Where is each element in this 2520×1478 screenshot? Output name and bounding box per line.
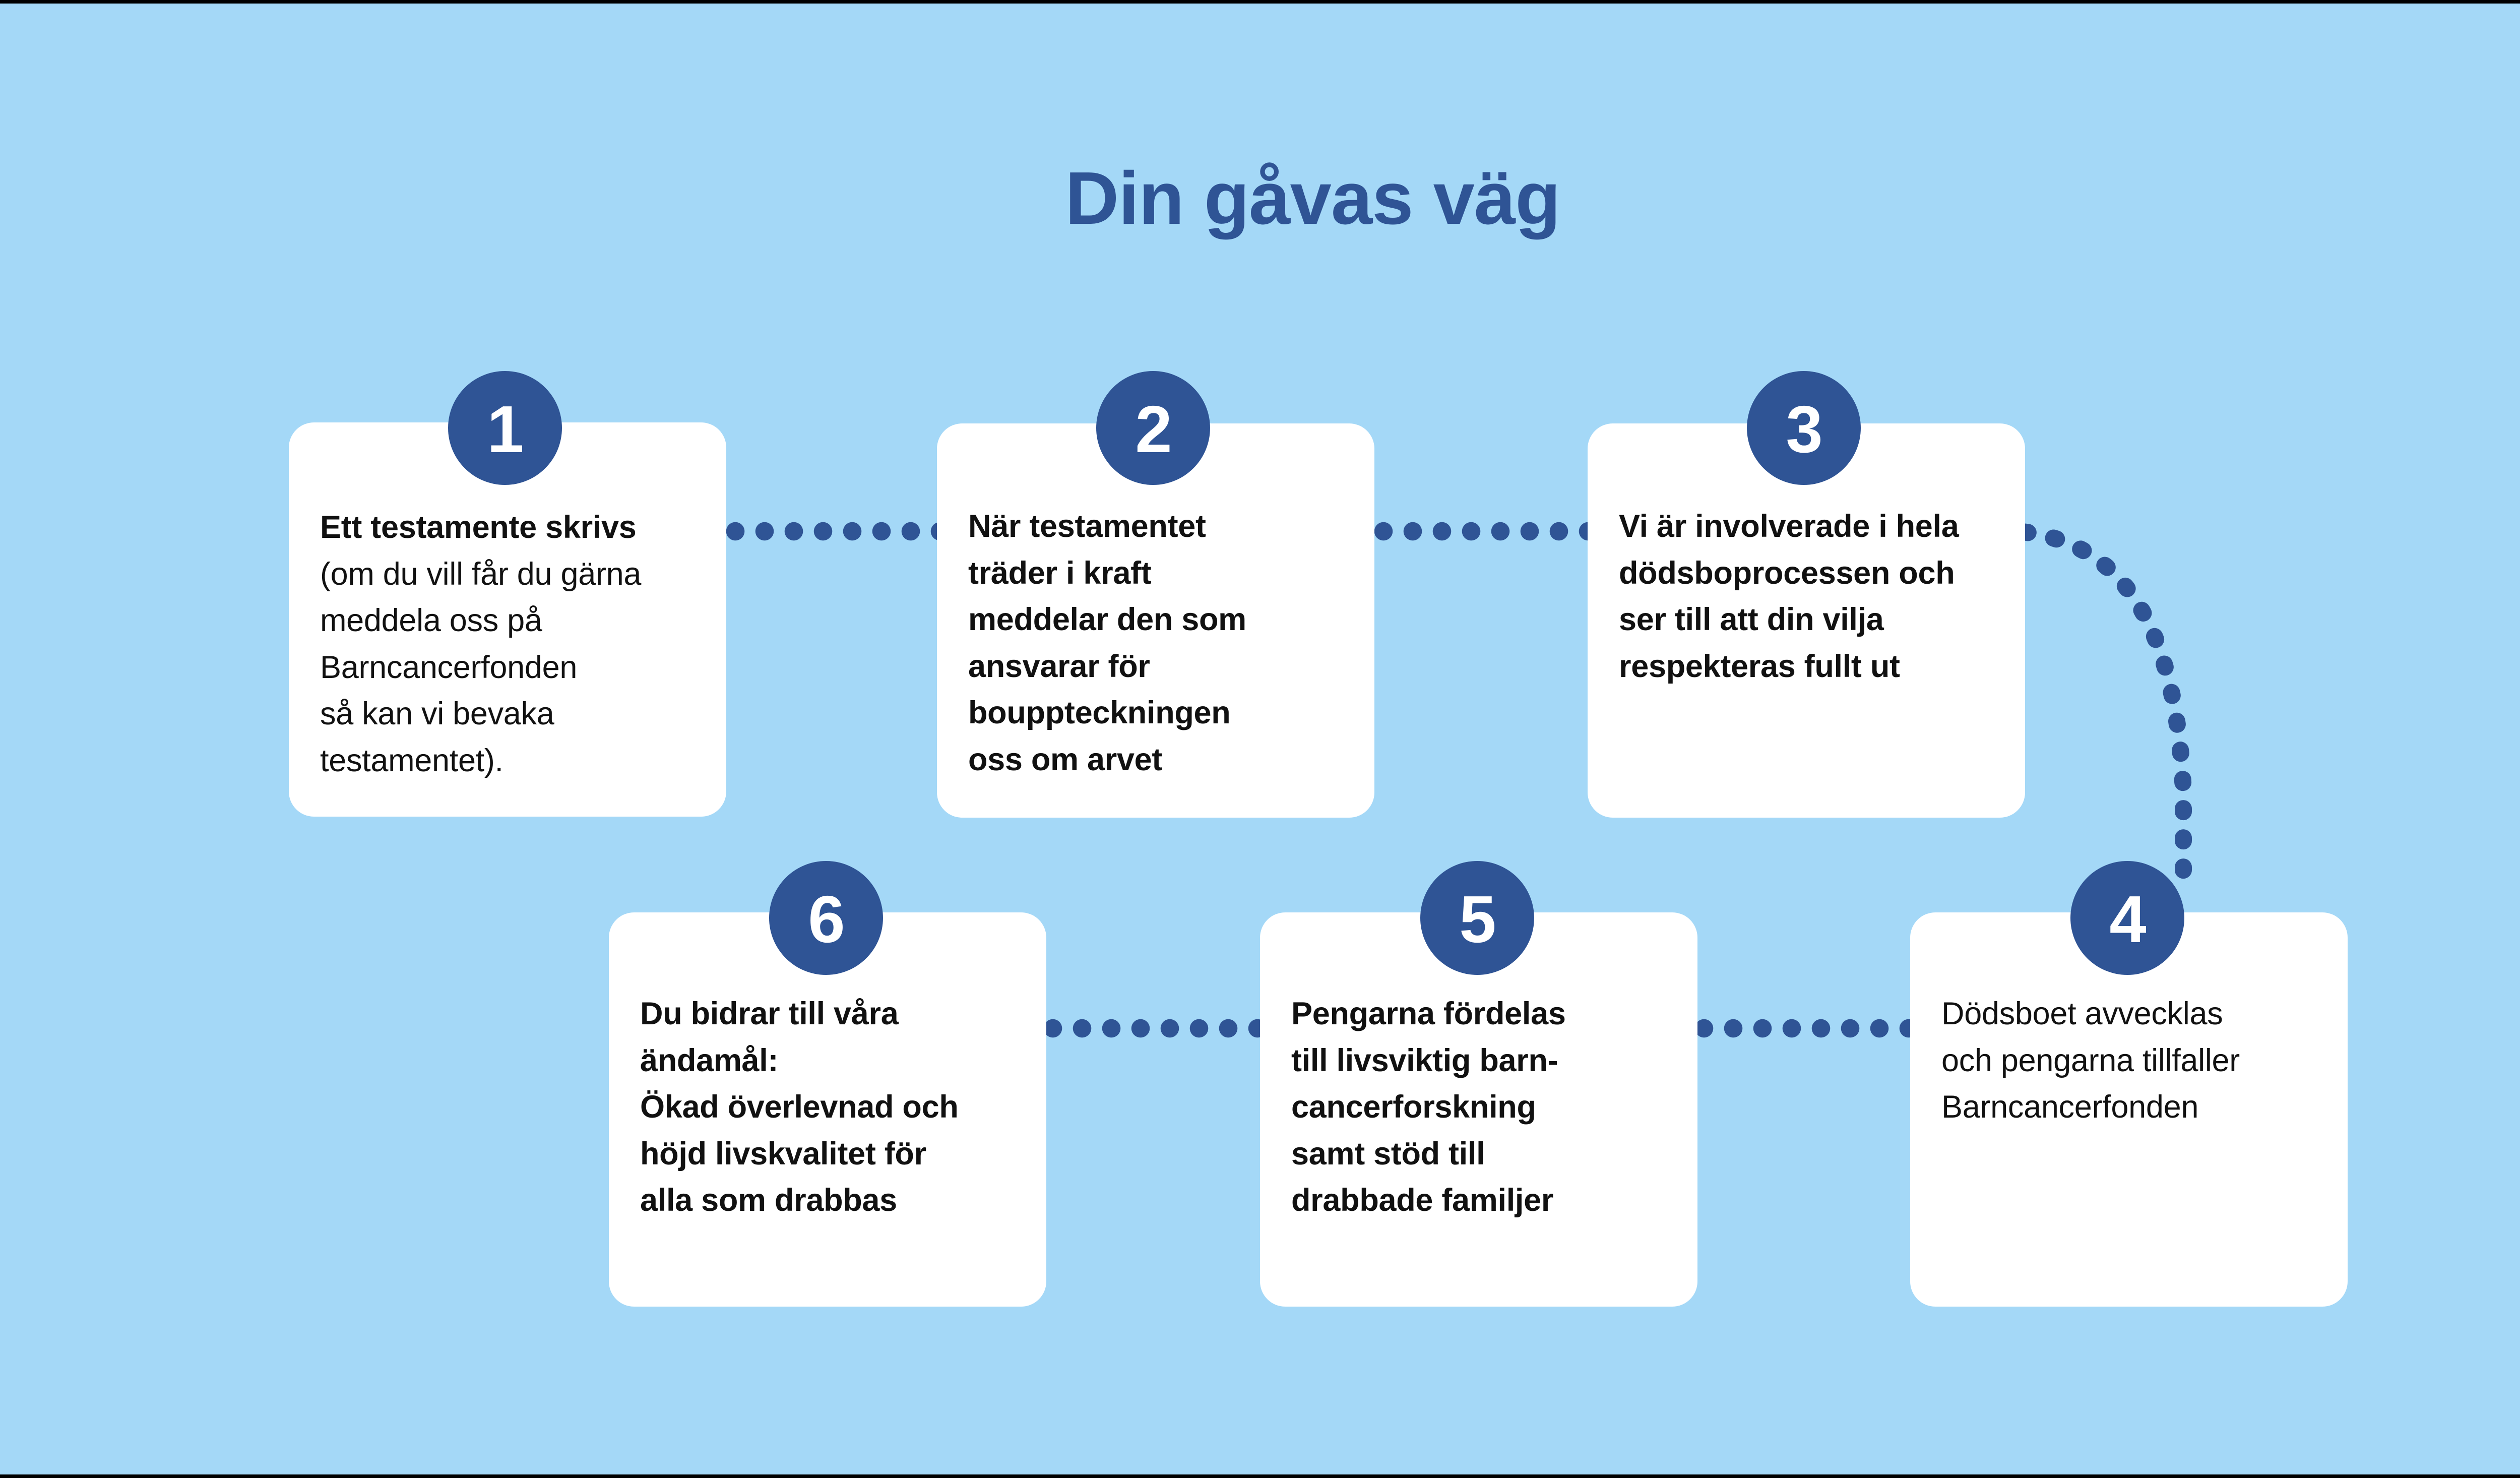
step-1-line-3: meddela oss på bbox=[320, 597, 700, 644]
step-card-6-text: Du bidrar till våra ändamål: Ökad överle… bbox=[640, 991, 1020, 1224]
step-2-line-5: bouppteckningen bbox=[968, 690, 1348, 736]
step-6-line-4: höjd livskvalitet för bbox=[640, 1131, 1020, 1178]
infographic-canvas: Din gåvas väg Ett testamente skrivs (om … bbox=[0, 0, 2520, 1478]
connector-step5-step4 bbox=[1694, 1019, 1913, 1038]
connector-step6-step5 bbox=[1043, 1019, 1263, 1038]
step-card-1-text: Ett testamente skrivs (om du vill får du… bbox=[320, 504, 700, 784]
top-edge-bar bbox=[0, 0, 2520, 4]
step-5-line-3: cancerforskning bbox=[1291, 1084, 1671, 1131]
page-title: Din gåvas väg bbox=[0, 161, 2520, 236]
step-6-line-3: Ökad överlevnad och bbox=[640, 1084, 1020, 1131]
step-badge-3: 3 bbox=[1747, 371, 1861, 485]
step-3-line-2: dödsboprocessen och bbox=[1619, 550, 1999, 597]
step-2-line-1: När testamentet bbox=[968, 503, 1348, 550]
step-2-line-2: träder i kraft bbox=[968, 550, 1348, 597]
step-card-4-text: Dödsboet avvecklas och pengarna tillfall… bbox=[1941, 991, 2321, 1131]
step-5-line-2: till livsviktig barn- bbox=[1291, 1037, 1671, 1084]
connector-step2-step3 bbox=[1374, 522, 1591, 541]
step-5-line-1: Pengarna fördelas bbox=[1291, 991, 1671, 1037]
step-2-line-4: ansvarar för bbox=[968, 643, 1348, 690]
step-card-5-text: Pengarna fördelas till livsviktig barn- … bbox=[1291, 991, 1671, 1224]
step-1-line-2: (om du vill får du gärna bbox=[320, 551, 700, 598]
step-5-line-5: drabbade familjer bbox=[1291, 1177, 1671, 1224]
step-4-line-2: och pengarna tillfaller bbox=[1941, 1037, 2321, 1084]
step-badge-5: 5 bbox=[1420, 861, 1534, 975]
step-3-line-4: respekteras fullt ut bbox=[1619, 643, 1999, 690]
step-2-line-3: meddelar den som bbox=[968, 596, 1348, 643]
step-6-line-1: Du bidrar till våra bbox=[640, 991, 1020, 1037]
bottom-edge-bar bbox=[0, 1474, 2520, 1478]
step-2-line-6: oss om arvet bbox=[968, 736, 1348, 783]
step-card-3-text: Vi är involverade i hela dödsboprocessen… bbox=[1619, 503, 1999, 690]
step-3-line-1: Vi är involverade i hela bbox=[1619, 503, 1999, 550]
step-badge-1: 1 bbox=[448, 371, 562, 485]
connector-step1-step2 bbox=[726, 522, 939, 541]
step-badge-4: 4 bbox=[2070, 861, 2184, 975]
step-5-line-4: samt stöd till bbox=[1291, 1131, 1671, 1178]
connector-step3-step4 bbox=[1996, 509, 2208, 902]
step-6-line-2: ändamål: bbox=[640, 1037, 1020, 1084]
step-1-line-4: Barncancerfonden bbox=[320, 644, 700, 691]
step-6-line-5: alla som drabbas bbox=[640, 1177, 1020, 1224]
step-badge-6: 6 bbox=[769, 861, 883, 975]
step-1-line-6: testamentet). bbox=[320, 737, 700, 784]
step-1-line-1: Ett testamente skrivs bbox=[320, 504, 700, 551]
step-1-line-5: så kan vi bevaka bbox=[320, 691, 700, 737]
step-3-line-3: ser till att din vilja bbox=[1619, 596, 1999, 643]
step-badge-2: 2 bbox=[1096, 371, 1210, 485]
step-4-line-1: Dödsboet avvecklas bbox=[1941, 991, 2321, 1037]
step-4-line-3: Barncancerfonden bbox=[1941, 1084, 2321, 1131]
step-card-2-text: När testamentet träder i kraft meddelar … bbox=[968, 503, 1348, 783]
